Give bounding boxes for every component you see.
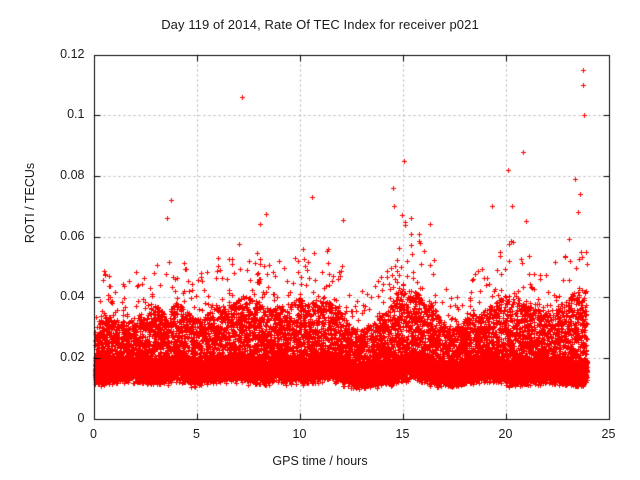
y-tick-label: 0.04 [25,289,85,303]
y-tick-label: 0.12 [25,47,85,61]
chart-container: Day 119 of 2014, Rate Of TEC Index for r… [0,0,640,480]
y-tick-label: 0.1 [25,107,85,121]
y-tick-label: 0.02 [25,350,85,364]
x-tick-label: 0 [74,427,114,441]
y-tick-label: 0 [25,411,85,425]
x-tick-label: 25 [589,427,629,441]
y-tick-label: 0.06 [25,229,85,243]
x-tick-label: 5 [177,427,217,441]
scatter-plot-canvas [0,0,640,480]
x-tick-label: 20 [486,427,526,441]
y-tick-label: 0.08 [25,168,85,182]
x-axis-label: GPS time / hours [0,454,640,468]
y-axis-label: ROTI / TECUs [23,123,37,283]
x-tick-label: 10 [280,427,320,441]
x-tick-label: 15 [383,427,423,441]
